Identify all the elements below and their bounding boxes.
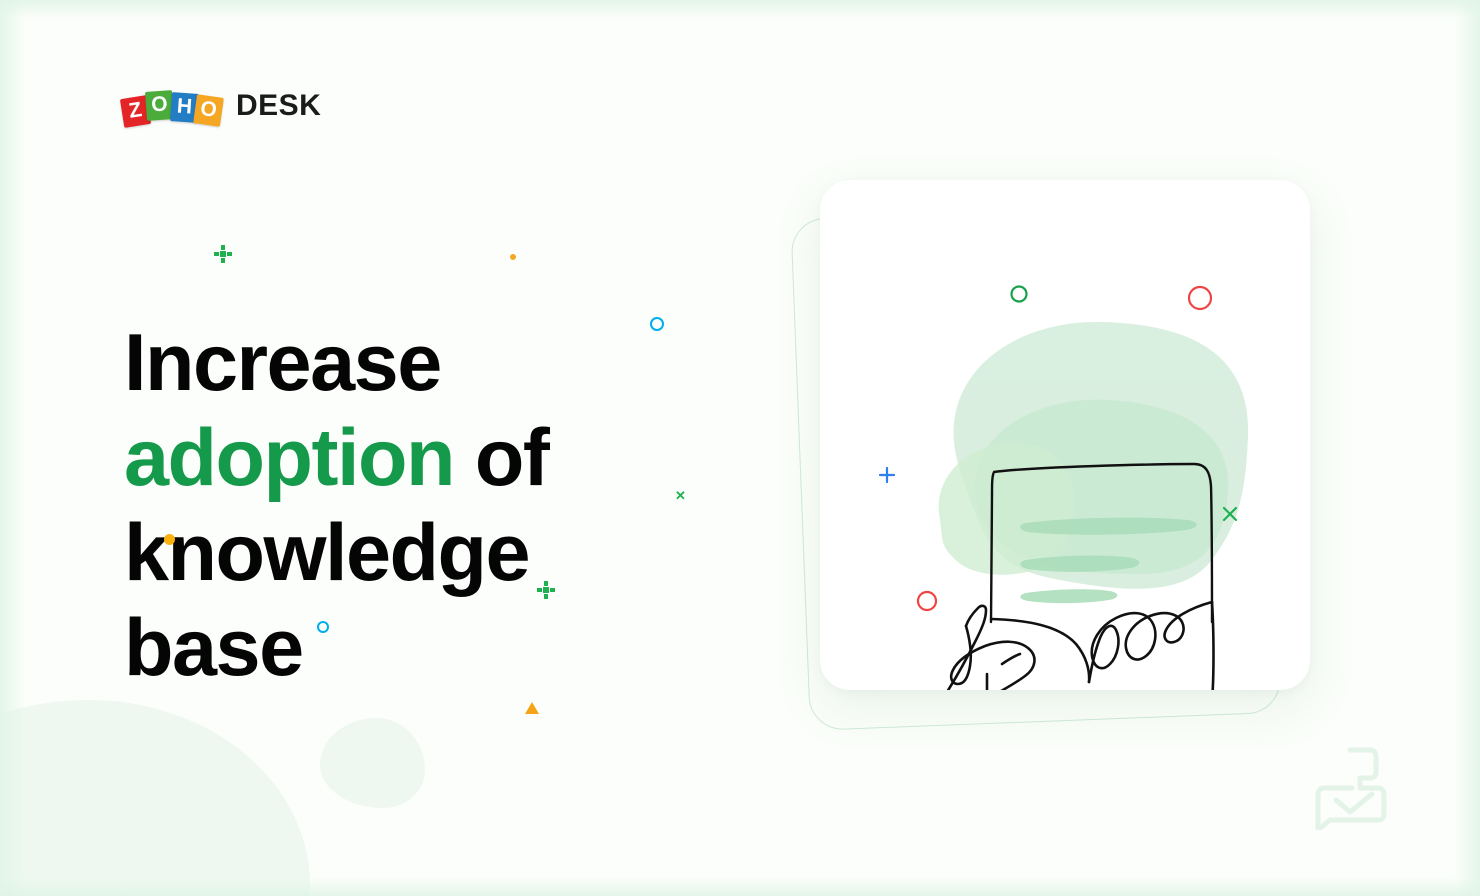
orange-dot-icon: [164, 534, 175, 545]
product-name-desk: DESK: [236, 89, 321, 123]
orange-triangle-icon: [525, 702, 539, 714]
red-ring-marker-top: [1189, 287, 1211, 309]
green-blob: [939, 322, 1248, 589]
logo-tile-o-orange-letter: O: [193, 93, 224, 125]
hero-banner: Z O H O DESK Increase adoption of knowle…: [0, 0, 1480, 896]
headline-highlight-adoption: adoption: [124, 413, 454, 503]
green-x-icon: ✕: [675, 489, 686, 502]
page-title: Increase adoption of knowledge base: [124, 316, 744, 696]
headline-line-2: adoption of: [124, 411, 744, 506]
headline-line-4: base: [124, 601, 744, 696]
green-ring-marker: [1012, 287, 1027, 302]
zoho-desk-watermark-icon: [1308, 742, 1396, 830]
blue-plus-marker: [880, 468, 894, 482]
green-dot-plus-icon-2: [537, 581, 555, 599]
blue-ring-small-icon: [317, 621, 329, 633]
headline-line-3: knowledge: [124, 506, 744, 601]
orange-small-dot-icon: [510, 254, 516, 260]
blue-ring-icon: [650, 317, 664, 331]
background-blob-small: [320, 718, 425, 808]
background-blob-large: [0, 700, 310, 896]
illustration-hand-signing-document: [780, 170, 1360, 750]
green-dot-plus-icon: [214, 245, 232, 263]
headline-line-2-tail: of: [454, 413, 548, 503]
illustration-artwork: [780, 170, 1360, 750]
red-ring-marker-bottom: [918, 592, 936, 610]
brand-logo[interactable]: Z O H O DESK: [122, 86, 321, 126]
headline-line-1: Increase: [124, 316, 744, 411]
zoho-logo-mark: Z O H O: [122, 86, 222, 126]
hand-line-art: [875, 602, 1214, 764]
logo-tile-o-orange: O: [193, 94, 224, 126]
